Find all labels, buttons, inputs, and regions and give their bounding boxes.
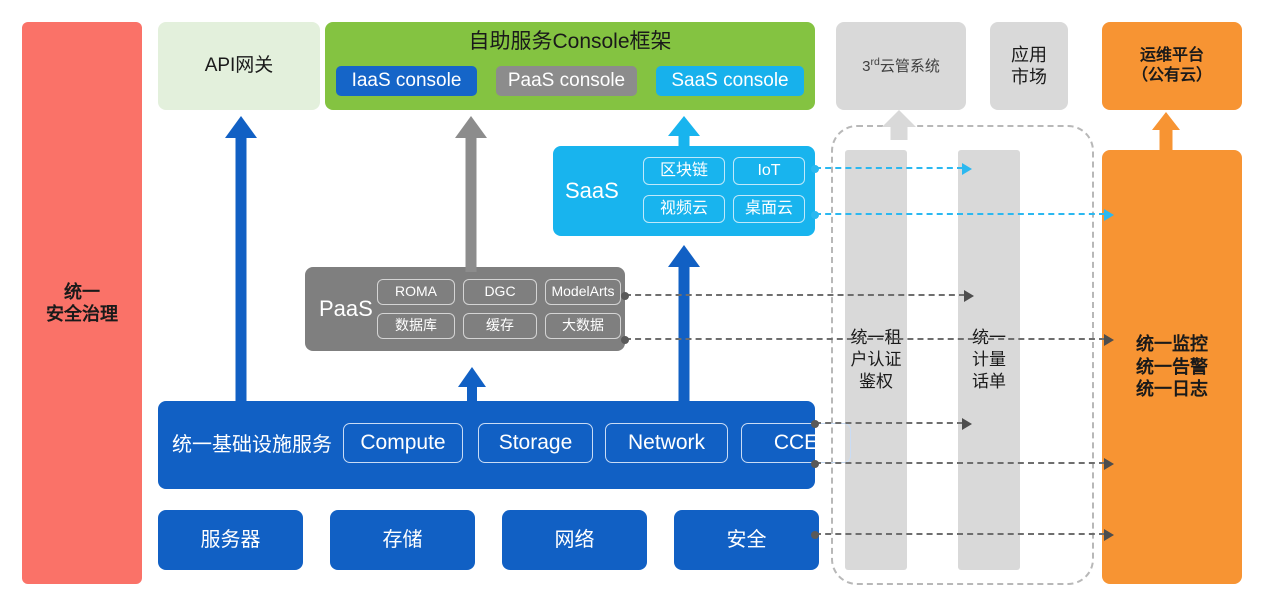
line-arrow-tip — [1104, 458, 1114, 470]
line-origin-dot — [811, 211, 819, 219]
third-party-label: 3rd云管系统 — [862, 56, 940, 77]
line-arrow-tip — [1104, 209, 1114, 221]
resource-storage-label: 存储 — [383, 528, 423, 553]
ops-platform-box[interactable]: 运维平台 （公有云） — [1102, 22, 1242, 110]
infrastructure-layer-box[interactable]: 统一基础设施服务 Compute Storage Network CCE — [158, 401, 815, 489]
unified-security-panel[interactable]: 统一 安全治理 — [22, 22, 142, 584]
resource-server-box[interactable]: 服务器 — [158, 510, 303, 570]
dashed-saas-to-ops — [815, 213, 1105, 215]
app-market-label: 应用 市场 — [1011, 44, 1047, 89]
app-market-box[interactable]: 应用 市场 — [990, 22, 1068, 110]
arrow-saas-to-console — [668, 116, 700, 152]
line-arrow-tip — [962, 163, 972, 175]
api-gateway-label: API网关 — [205, 54, 274, 78]
saas-layer-box[interactable]: SaaS 区块链 IoT 视频云 桌面云 — [553, 146, 815, 236]
line-arrow-tip — [962, 418, 972, 430]
console-framework-title: 自助服务Console框架 — [325, 29, 815, 55]
line-origin-dot — [621, 336, 629, 344]
line-origin-dot — [811, 531, 819, 539]
third-party-cloud-mgmt-box[interactable]: 3rd云管系统 — [836, 22, 966, 110]
saas-service-video-cloud[interactable]: 视频云 — [643, 195, 725, 223]
architecture-diagram: 统一 安全治理 API网关 自助服务Console框架 IaaS console… — [0, 0, 1265, 605]
unified-tenant-auth-label: 统一租 户认证 鉴权 — [851, 327, 902, 393]
line-origin-dot — [811, 420, 819, 428]
arrow-infra-to-api-gateway — [225, 116, 257, 404]
saas-service-blockchain[interactable]: 区块链 — [643, 157, 725, 185]
unified-monitoring-label: 统一监控 统一告警 统一日志 — [1136, 333, 1208, 401]
infra-service-storage[interactable]: Storage — [478, 423, 593, 463]
unified-metering-label: 统一 计量 话单 — [972, 327, 1006, 393]
line-origin-dot — [811, 165, 819, 173]
resource-server-label: 服务器 — [201, 528, 261, 553]
paas-service-bigdata[interactable]: 大数据 — [545, 313, 621, 339]
unified-security-label: 统一 安全治理 — [46, 281, 118, 326]
paas-service-modelarts[interactable]: ModelArts — [545, 279, 621, 305]
resource-network-box[interactable]: 网络 — [502, 510, 647, 570]
dashed-paas-to-ops — [625, 338, 1105, 340]
resource-storage-box[interactable]: 存储 — [330, 510, 475, 570]
ops-platform-label: 运维平台 （公有云） — [1132, 46, 1212, 86]
paas-service-roma[interactable]: ROMA — [377, 279, 455, 305]
line-arrow-tip — [1104, 334, 1114, 346]
line-arrow-tip — [1104, 529, 1114, 541]
dashed-infra-to-auth — [815, 422, 963, 424]
api-gateway-box[interactable]: API网关 — [158, 22, 320, 110]
dashed-resources-to-ops — [815, 533, 1105, 535]
saas-console-chip[interactable]: SaaS console — [656, 66, 804, 96]
paas-console-chip[interactable]: PaaS console — [496, 66, 637, 96]
iaas-console-chip[interactable]: IaaS console — [336, 66, 477, 96]
dashed-paas-to-auth — [625, 294, 965, 296]
infra-service-network[interactable]: Network — [605, 423, 728, 463]
dashed-saas-to-metering — [815, 167, 963, 169]
saas-service-iot[interactable]: IoT — [733, 157, 805, 185]
arrow-infra-to-saas — [668, 245, 700, 405]
arrow-ops-panel-to-ops-box — [1152, 112, 1180, 152]
resource-security-box[interactable]: 安全 — [674, 510, 819, 570]
saas-layer-label: SaaS — [565, 146, 619, 236]
arrow-to-third-party-box — [882, 110, 916, 140]
resource-network-label: 网络 — [555, 528, 595, 553]
saas-service-desktop-cloud[interactable]: 桌面云 — [733, 195, 805, 223]
paas-layer-box[interactable]: PaaS ROMA DGC ModelArts 数据库 缓存 大数据 — [305, 267, 625, 351]
arrow-infra-to-paas — [458, 367, 486, 407]
line-arrow-tip — [964, 290, 974, 302]
unified-monitoring-panel[interactable]: 统一监控 统一告警 统一日志 — [1102, 150, 1242, 584]
infrastructure-layer-label: 统一基础设施服务 — [172, 401, 332, 489]
paas-service-cache[interactable]: 缓存 — [463, 313, 537, 339]
infra-service-compute[interactable]: Compute — [343, 423, 463, 463]
paas-service-dgc[interactable]: DGC — [463, 279, 537, 305]
paas-service-database[interactable]: 数据库 — [377, 313, 455, 339]
arrow-paas-to-console — [455, 116, 487, 272]
line-origin-dot — [811, 460, 819, 468]
infra-service-cce[interactable]: CCE — [741, 423, 851, 463]
line-origin-dot — [621, 292, 629, 300]
dashed-infra-to-ops — [815, 462, 1105, 464]
console-framework-box[interactable]: 自助服务Console框架 IaaS console PaaS console … — [325, 22, 815, 110]
resource-security-label: 安全 — [727, 528, 767, 553]
paas-layer-label: PaaS — [319, 267, 373, 351]
